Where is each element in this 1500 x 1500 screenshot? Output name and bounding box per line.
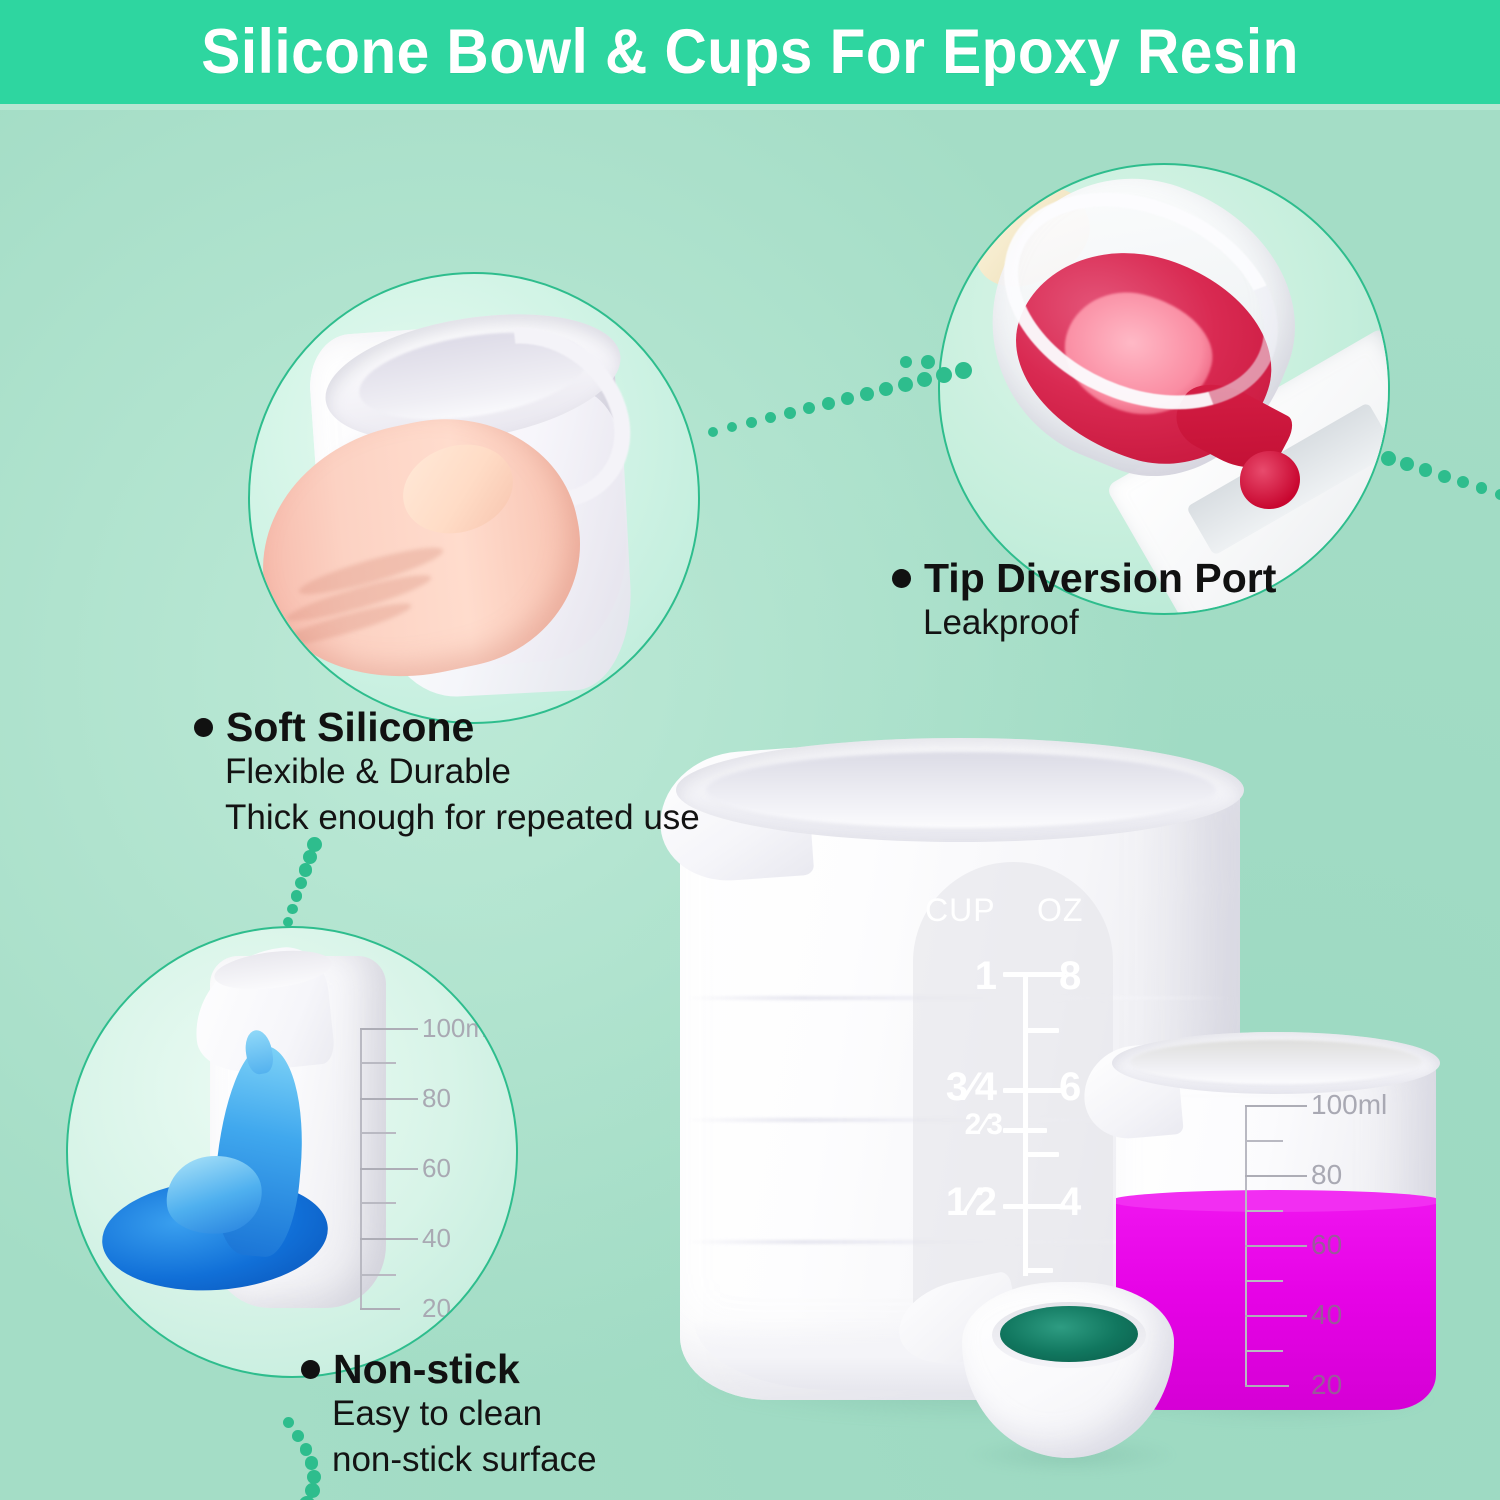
callout-title: Non-stick — [301, 1348, 597, 1391]
small-cup-interior — [1130, 1040, 1422, 1084]
bullet-dot-icon — [194, 718, 213, 737]
scale-bar-minor — [1023, 1028, 1059, 1033]
scale-bar-minor — [1023, 1268, 1053, 1273]
callout-tip-diversion-port: Tip Diversion Port Leakproof — [892, 557, 1276, 646]
measurement-scale-cup-oz: CUP OZ 1 8 3⁄4 6 2⁄3 1⁄2 4 1⁄3 — [913, 862, 1113, 1342]
scale-bar-major — [1003, 972, 1065, 977]
scale-label-60: 60 — [1311, 1231, 1342, 1259]
callout-subtitle-line-1: Flexible & Durable — [194, 749, 700, 795]
callout-title-text: Non-stick — [333, 1348, 520, 1391]
scale-tick-major — [1245, 1175, 1307, 1177]
scale-tick-minor — [1245, 1350, 1283, 1352]
callout-subtitle-line-1: Easy to clean — [301, 1391, 597, 1437]
scale-label-40: 40 — [1311, 1301, 1342, 1329]
scale-bar-major — [1003, 1088, 1065, 1093]
scale-value-cup-3-4: 3⁄4 — [943, 1067, 997, 1107]
scale-bar-minor — [1023, 1152, 1059, 1157]
scale-tick-major — [1245, 1105, 1307, 1107]
page-title: Silicone Bowl & Cups For Epoxy Resin — [201, 16, 1299, 88]
scale-value-oz-4: 4 — [1059, 1182, 1099, 1222]
callout-non-stick: Non-stick Easy to clean non-stick surfac… — [301, 1348, 597, 1483]
scale-tick-minor — [1245, 1140, 1283, 1142]
scale-tick-major — [1245, 1385, 1289, 1387]
callout-title: Soft Silicone — [194, 706, 700, 749]
scale-tick-minor — [1245, 1210, 1283, 1212]
callout-title-text: Tip Diversion Port — [924, 557, 1276, 600]
scale-bar-major — [1003, 1204, 1065, 1209]
header-divider — [0, 104, 1500, 110]
header-banner: Silicone Bowl & Cups For Epoxy Resin — [0, 0, 1500, 104]
bullet-dot-icon — [892, 569, 911, 588]
scale-stem — [1023, 1206, 1028, 1276]
scale-value-cup-1: 1 — [943, 956, 997, 996]
bullet-dot-icon — [301, 1360, 320, 1379]
callout-subtitle-line-2: Thick enough for repeated use — [194, 795, 700, 841]
large-cup-interior — [706, 752, 1216, 828]
callout-soft-silicone: Soft Silicone Flexible & Durable Thick e… — [194, 706, 700, 841]
callout-subtitle-line-1: Leakproof — [892, 600, 1276, 646]
ml-scale-small-cup: 100ml 80 60 40 20 — [1245, 1105, 1385, 1387]
scale-tick-major — [1245, 1245, 1307, 1247]
scale-value-oz-8: 8 — [1059, 956, 1099, 996]
product-infographic: Silicone Bowl & Cups For Epoxy Resin — [0, 0, 1500, 1500]
scale-stem — [1023, 1090, 1028, 1204]
callout-title: Tip Diversion Port — [892, 557, 1276, 600]
scale-tick-minor — [1245, 1280, 1283, 1282]
scale-value-cup-2-3: 2⁄3 — [949, 1110, 1003, 1140]
callout-title-text: Soft Silicone — [226, 706, 474, 749]
scale-label-80: 80 — [1311, 1161, 1342, 1189]
scale-label-20: 20 — [1311, 1371, 1342, 1399]
scale-tick-major — [1245, 1315, 1307, 1317]
scale-header-oz: OZ — [1037, 894, 1083, 926]
scale-label-100ml: 100ml — [1311, 1091, 1387, 1119]
scale-value-cup-1-2: 1⁄2 — [943, 1182, 997, 1222]
callout-subtitle-line-2: non-stick surface — [301, 1437, 597, 1483]
scale-header-cup: CUP — [925, 894, 996, 926]
green-liquid — [1000, 1306, 1138, 1362]
